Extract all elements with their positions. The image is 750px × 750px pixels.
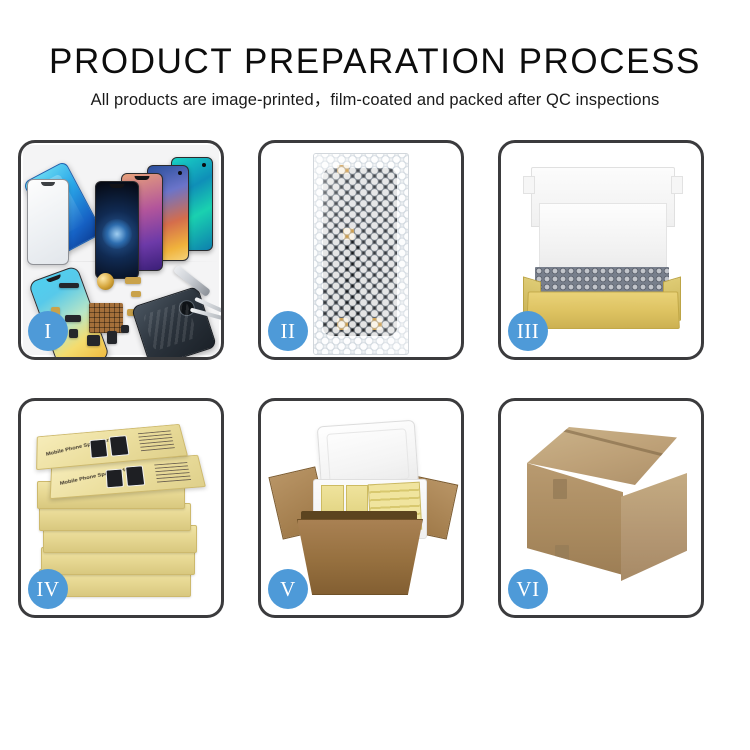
screw-tray-part: [89, 303, 123, 333]
step-badge-5: V: [268, 569, 308, 609]
step-badge-1: I: [28, 311, 68, 351]
foam-sheet: [539, 203, 667, 277]
carton-tape-lower: [555, 545, 569, 565]
box-spec-lines-front: [154, 462, 191, 482]
flex-cable-part-b: [131, 291, 141, 297]
panel-step-6: VI: [498, 398, 704, 618]
phone-screen-fan: [73, 155, 221, 267]
box-front-panel: [526, 291, 680, 329]
earpiece-mesh-part: [59, 283, 79, 288]
panel-step-3: III: [498, 140, 704, 360]
panel-step-4: Mobile Phone Spare Parts Mobile Phone Sp…: [18, 398, 224, 618]
box-spec-lines-top: [138, 430, 175, 451]
tempered-glass-panel: [27, 179, 69, 265]
step-badge-6: VI: [508, 569, 548, 609]
box-art-thumb-top-a: [89, 439, 108, 459]
camera-module-part: [87, 335, 100, 346]
phone-screen-dark: [95, 181, 139, 279]
panel-step-5: V: [258, 398, 464, 618]
step-badge-4: IV: [28, 569, 68, 609]
panel-step-2: II: [258, 140, 464, 360]
connector-part-b: [69, 329, 78, 338]
carton-right-face: [621, 473, 687, 581]
sensor-part: [121, 325, 129, 333]
speaker-coil-part: [97, 273, 114, 290]
connector-part-a: [65, 315, 81, 322]
panel-step-1: I: [18, 140, 224, 360]
carton-top-seam: [558, 427, 667, 457]
process-step-grid: I II: [18, 140, 732, 618]
carton-tape-upper: [553, 479, 567, 499]
step-badge-2: II: [268, 311, 308, 351]
carton-left-face: [527, 463, 623, 575]
vibrator-motor-part: [107, 331, 117, 344]
open-shipping-carton: [279, 419, 447, 601]
page-title: PRODUCT PREPARATION PROCESS: [0, 42, 750, 82]
box-art-thumb-top-b: [109, 435, 130, 456]
page-subtitle: All products are image-printed，film-coat…: [0, 89, 750, 111]
page-header: PRODUCT PREPARATION PROCESS All products…: [0, 0, 750, 111]
box-art-thumb-front-a: [106, 469, 124, 489]
step-badge-3: III: [508, 311, 548, 351]
carton-front-panel: [297, 519, 423, 595]
box-art-thumb-front-b: [125, 465, 145, 486]
flex-cable-part-a: [125, 277, 141, 284]
open-mailer-box: [523, 167, 681, 331]
sealed-shipping-carton: [517, 427, 689, 585]
bubble-wrap-bag: [313, 153, 409, 355]
bag-sheen: [314, 154, 408, 354]
